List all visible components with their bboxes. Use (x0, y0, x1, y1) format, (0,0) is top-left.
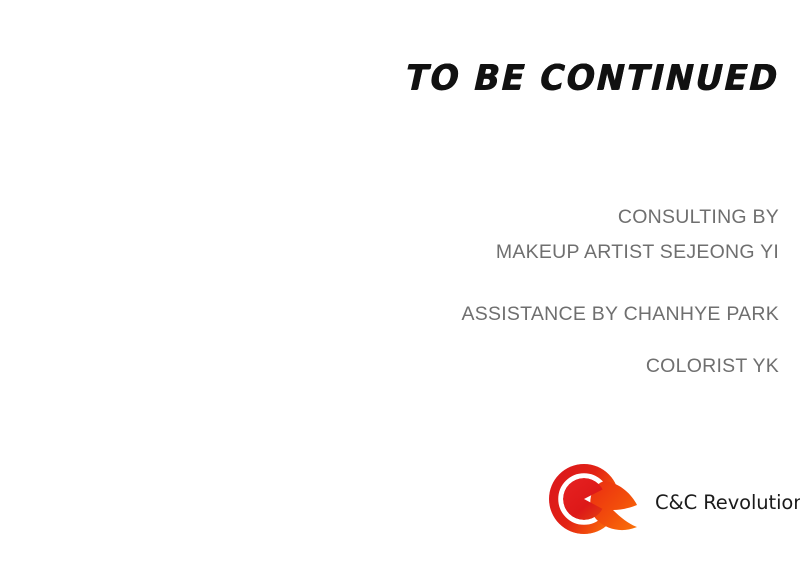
cc-revolution-swoosh-icon (545, 463, 645, 539)
publisher-logo: C&C Revolution (545, 460, 785, 542)
credit-line-colorist: COLORIST YK (0, 349, 779, 384)
credit-line-consulting-role: CONSULTING BY (0, 200, 779, 235)
credit-line-assistance: ASSISTANCE BY CHANHYE PARK (0, 297, 779, 332)
credit-group-colorist: COLORIST YK (0, 349, 779, 384)
logo-wordmark: C&C Revolution (655, 493, 800, 513)
page-title: TO BE CONTINUED (405, 57, 780, 99)
credit-line-consulting-name: MAKEUP ARTIST SEJEONG YI (0, 235, 779, 270)
title-block: TO BE CONTINUED (0, 58, 779, 98)
credit-group-assistance: ASSISTANCE BY CHANHYE PARK (0, 297, 779, 332)
credits-spacer-1 (0, 270, 779, 297)
credits-page: TO BE CONTINUED CONSULTING BY MAKEUP ART… (0, 0, 800, 577)
credits-list: CONSULTING BY MAKEUP ARTIST SEJEONG YI A… (0, 200, 779, 384)
credits-spacer-2 (0, 332, 779, 349)
credit-group-consulting: CONSULTING BY MAKEUP ARTIST SEJEONG YI (0, 200, 779, 270)
